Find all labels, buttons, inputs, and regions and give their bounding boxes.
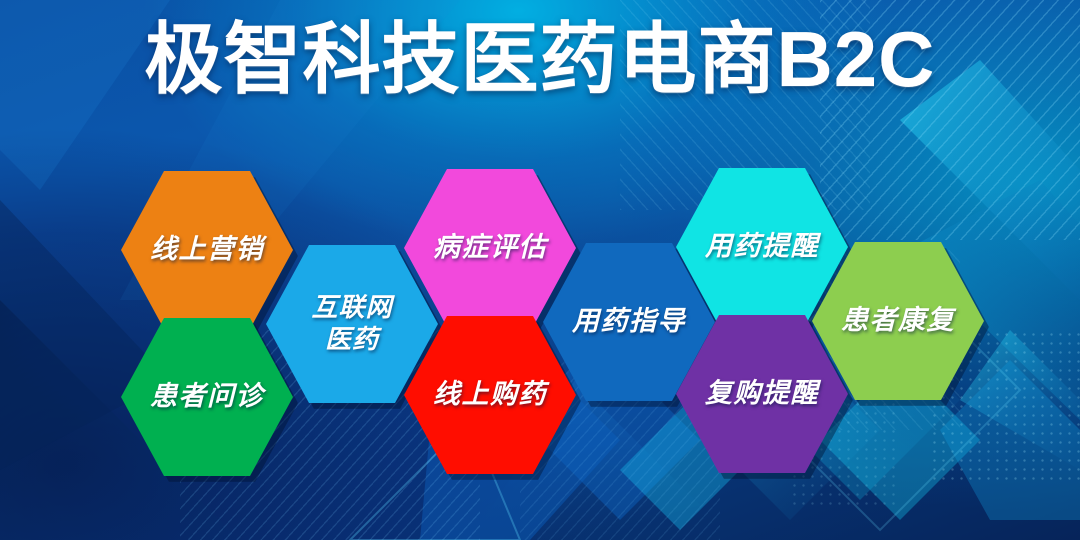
infographic-canvas: 极智科技医药电商B2C 线上营销患者问诊互联网 医药病症评估线上购药用药指导用药… xyxy=(0,0,1080,540)
hexagon-label: 患者康复 xyxy=(841,305,955,335)
hexagon-label: 复购提醒 xyxy=(705,378,819,408)
hexagon-label: 线上营销 xyxy=(150,234,264,264)
hexagon-label: 线上购药 xyxy=(433,379,547,409)
hexagon-label: 病症评估 xyxy=(433,232,547,262)
hexagon-label: 患者问诊 xyxy=(150,381,264,411)
hexagon-label: 互联网 医药 xyxy=(311,291,392,356)
hexagon-cluster: 线上营销患者问诊互联网 医药病症评估线上购药用药指导用药提醒复购提醒患者康复 xyxy=(0,0,1080,540)
hexagon-label: 用药提醒 xyxy=(705,231,819,261)
hexagon-label: 用药指导 xyxy=(572,306,686,336)
